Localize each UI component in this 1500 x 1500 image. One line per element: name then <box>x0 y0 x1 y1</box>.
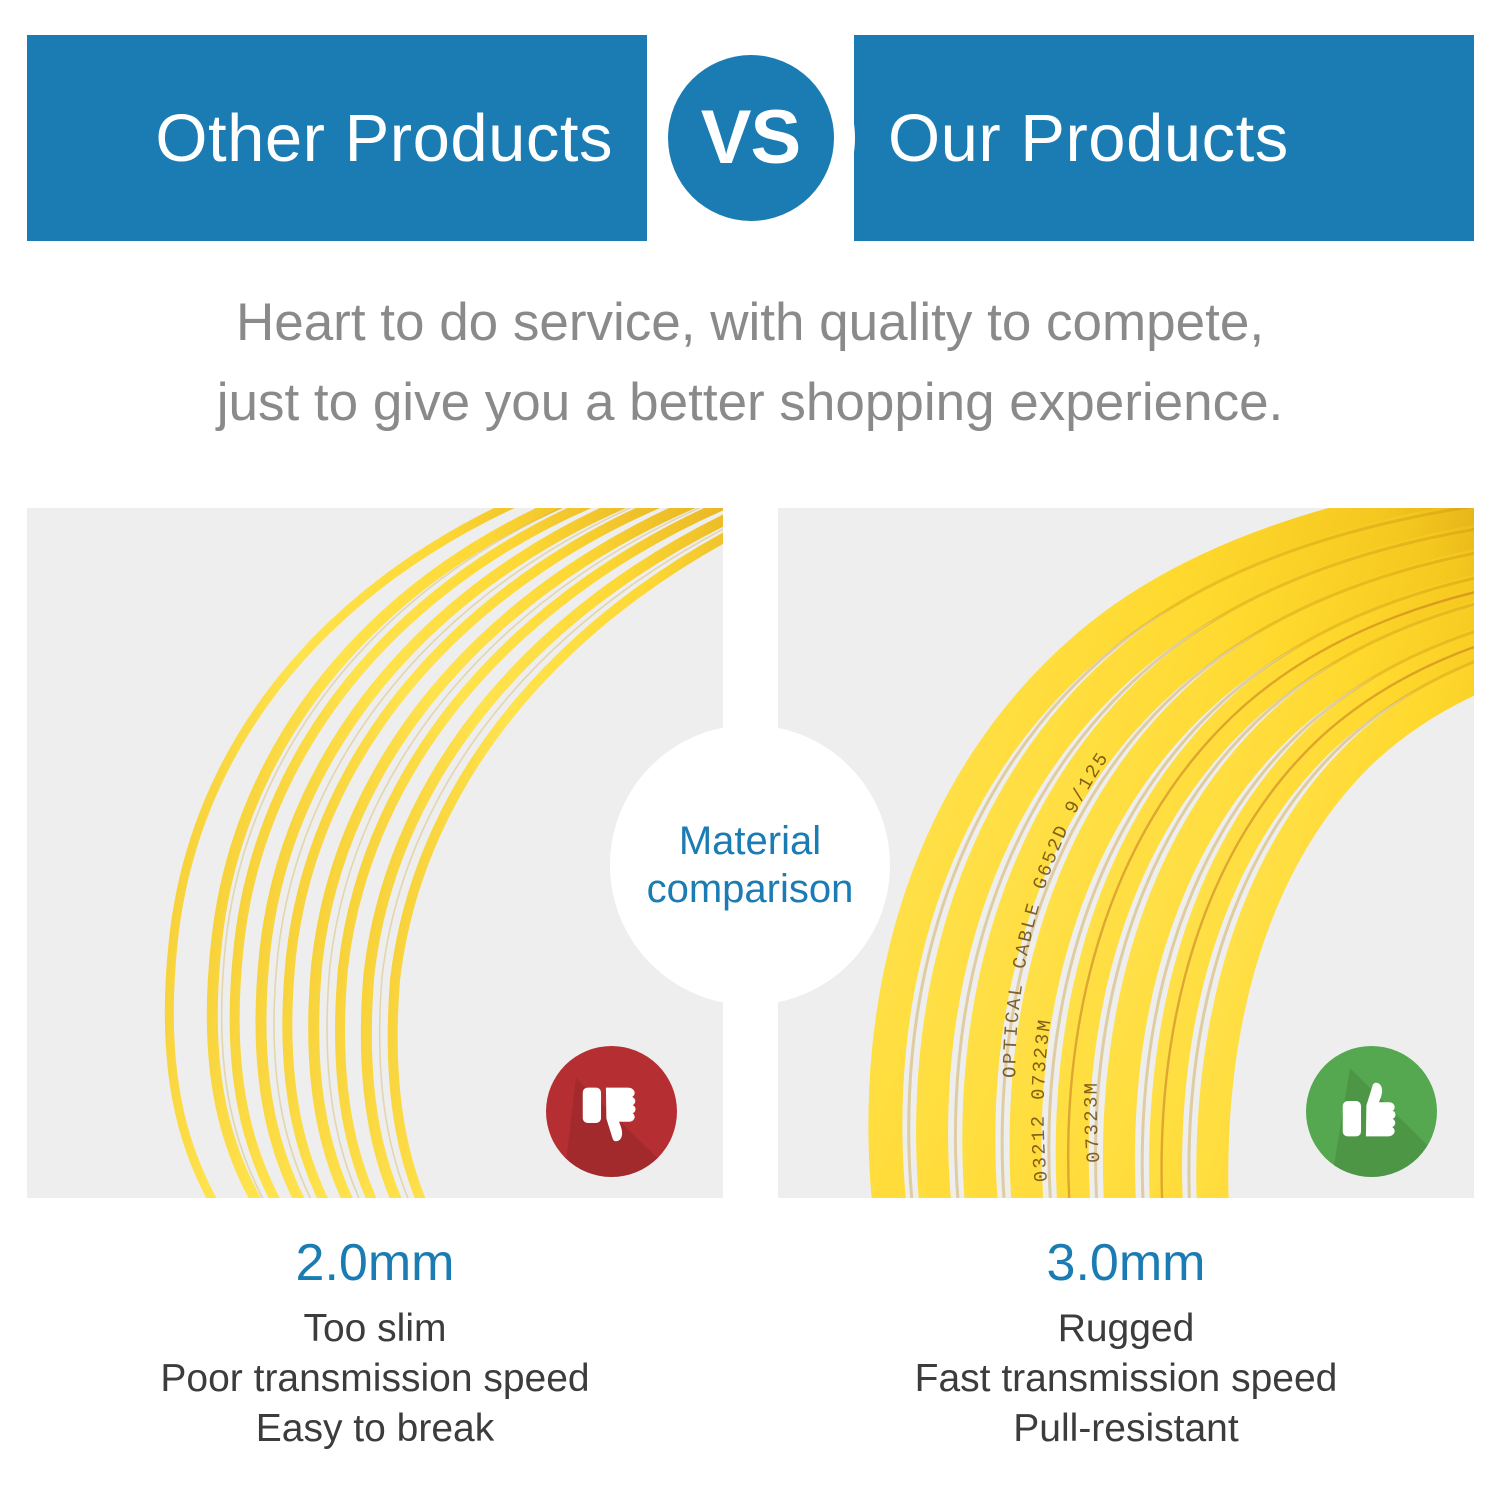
caption-area: 2.0mm Too slim Poor transmission speed E… <box>27 1232 1474 1482</box>
left-feature-2: Poor transmission speed <box>27 1354 723 1404</box>
thumbs-down-badge <box>546 1046 677 1177</box>
vs-badge-circle: VS <box>668 55 834 221</box>
other-products-title: Other Products <box>155 105 613 172</box>
thumbs-down-icon <box>573 1073 651 1151</box>
right-feature-1: Rugged <box>778 1304 1474 1354</box>
our-products-title: Our Products <box>888 105 1289 172</box>
material-bubble-line-1: Material <box>679 817 821 865</box>
left-caption-column: 2.0mm Too slim Poor transmission speed E… <box>27 1232 723 1454</box>
header-right-panel: Our Products <box>854 35 1474 241</box>
thumbs-up-icon <box>1333 1073 1411 1151</box>
right-feature-3: Pull-resistant <box>778 1404 1474 1454</box>
vs-badge-ring: VS <box>647 34 855 242</box>
thumbs-up-badge <box>1306 1046 1437 1177</box>
tagline: Heart to do service, with quality to com… <box>0 283 1500 443</box>
left-feature-1: Too slim <box>27 1304 723 1354</box>
header-left-panel: Other Products <box>27 35 647 241</box>
material-bubble-line-2: comparison <box>647 865 854 913</box>
right-caption-column: 3.0mm Rugged Fast transmission speed Pul… <box>778 1232 1474 1454</box>
left-size-label: 2.0mm <box>27 1232 723 1294</box>
right-feature-2: Fast transmission speed <box>778 1354 1474 1404</box>
material-comparison-bubble: Material comparison <box>610 725 890 1005</box>
tagline-line-1: Heart to do service, with quality to com… <box>0 283 1500 363</box>
tagline-line-2: just to give you a better shopping exper… <box>0 363 1500 443</box>
vs-label: VS <box>701 100 800 176</box>
vs-header-bar: Other Products Our Products VS <box>27 35 1474 241</box>
right-size-label: 3.0mm <box>778 1232 1474 1294</box>
left-feature-3: Easy to break <box>27 1404 723 1454</box>
